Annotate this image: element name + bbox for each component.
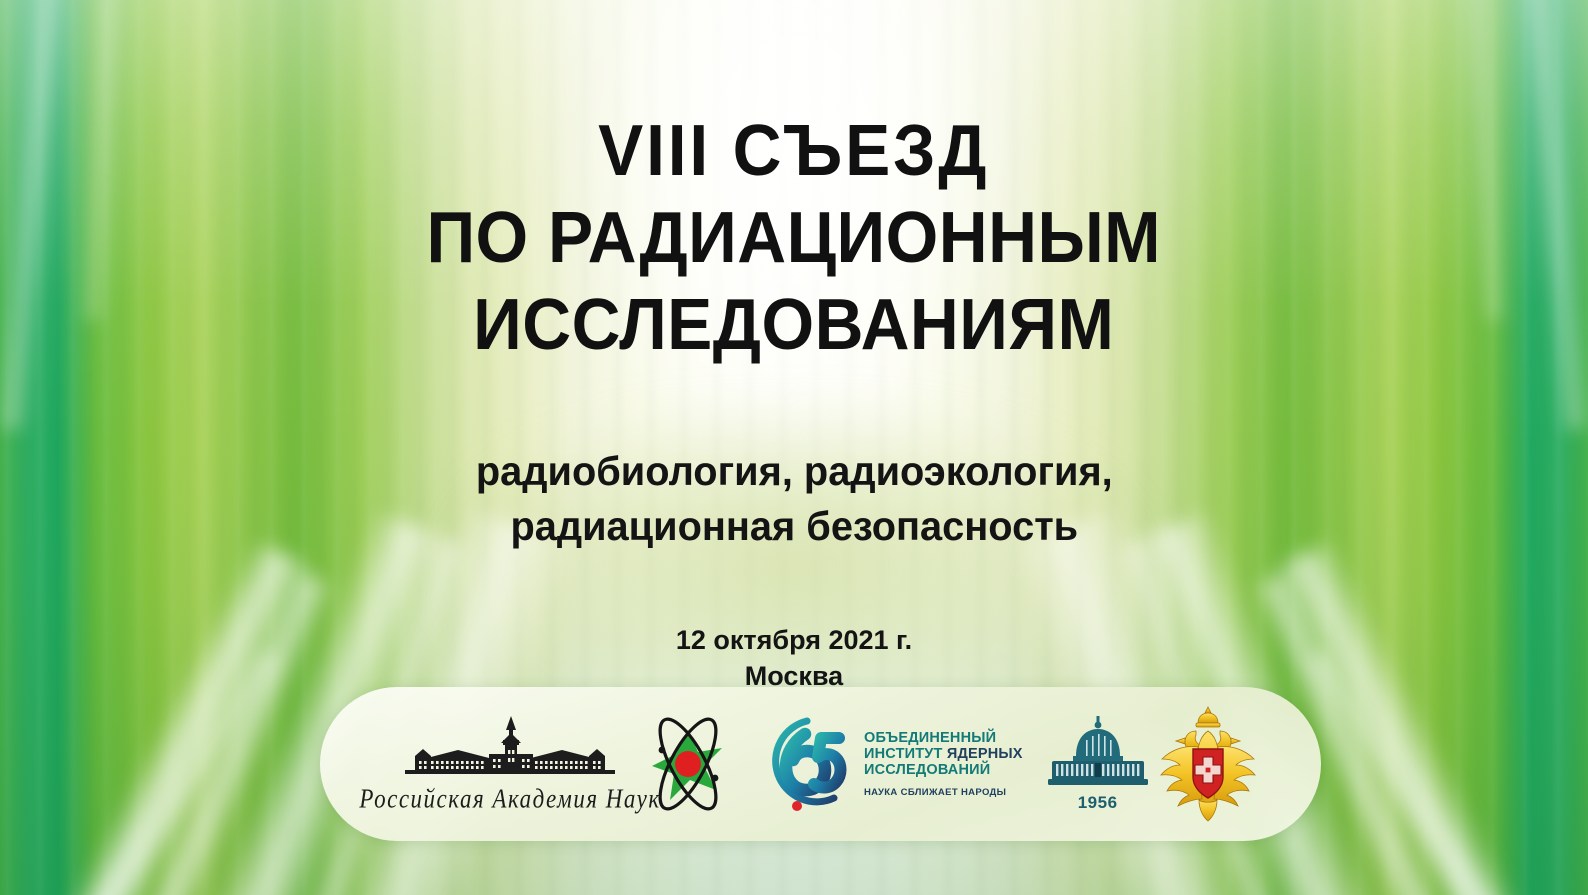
event-date: 12 октября 2021 г. [676,623,912,659]
sponsor-logo-bar: Российская Академия Наук [320,687,1321,841]
logo-jinr: ОБЪЕДИНЕННЫЙ ИНСТИТУТ ЯДЕРНЫХ ИССЛЕДОВАН… [740,704,1044,824]
logo-building: 1956 [1044,704,1152,824]
title-line-3: ИССЛЕДОВАНИЯМ [427,282,1162,369]
subtitle-line-2: радиационная безопасность [476,499,1113,553]
title-line-2: ПО РАДИАЦИОННЫМ [427,195,1162,282]
jinr-line-3: ИССЛЕДОВАНИЙ [864,762,1023,778]
double-headed-eagle-icon [1152,705,1264,823]
jinr-line-2a: ИНСТИТУТ [864,746,947,762]
jinr-line-1: ОБЪЕДИНЕННЫЙ [864,730,1023,746]
jinr-line-2: ИНСТИТУТ ЯДЕРНЫХ [864,746,1023,762]
jinr-65-icon [761,712,853,816]
event-meta: 12 октября 2021 г. Москва [676,623,912,695]
jinr-line-2b: ЯДЕРНЫХ [947,746,1023,762]
ras-building-icon [405,716,615,790]
logo-ras: Российская Академия Наук [384,704,636,824]
domed-building-icon [1046,716,1150,790]
logo-eagle [1152,704,1265,824]
building-year: 1956 [1078,793,1118,813]
conference-title-slide: VIII СЪЕЗД ПО РАДИАЦИОННЫМ ИССЛЕДОВАНИЯМ… [0,0,1588,895]
logo-ras-caption: Российская Академия Наук [359,784,660,815]
jinr-slogan: НАУКА СБЛИЖАЕТ НАРОДЫ [864,788,1023,799]
subtitle-line-1: радиобиология, радиоэкология, [476,444,1113,498]
page-subtitle: радиобиология, радиоэкология, радиационн… [476,444,1113,552]
page-title: VIII СЪЕЗД ПО РАДИАЦИОННЫМ ИССЛЕДОВАНИЯМ [427,108,1162,368]
title-line-1: VIII СЪЕЗД [427,108,1162,195]
